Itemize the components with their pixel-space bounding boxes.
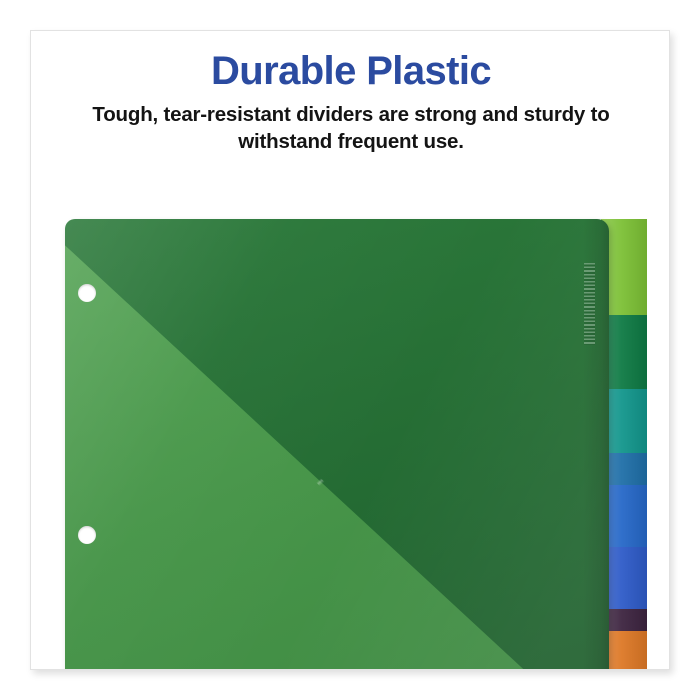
screenshot-root: Durable Plastic Tough, tear-resistant di… [0,0,700,700]
product-image [31,159,670,670]
binder-hole-top [78,284,96,302]
product-feature-card: Durable Plastic Tough, tear-resistant di… [30,30,670,670]
reinforced-rib-strip [584,263,595,345]
page-subtitle: Tough, tear-resistant dividers are stron… [51,101,651,156]
page-title: Durable Plastic [31,49,670,93]
divider-sleeve [65,219,609,670]
binder-hole-bottom [78,526,96,544]
